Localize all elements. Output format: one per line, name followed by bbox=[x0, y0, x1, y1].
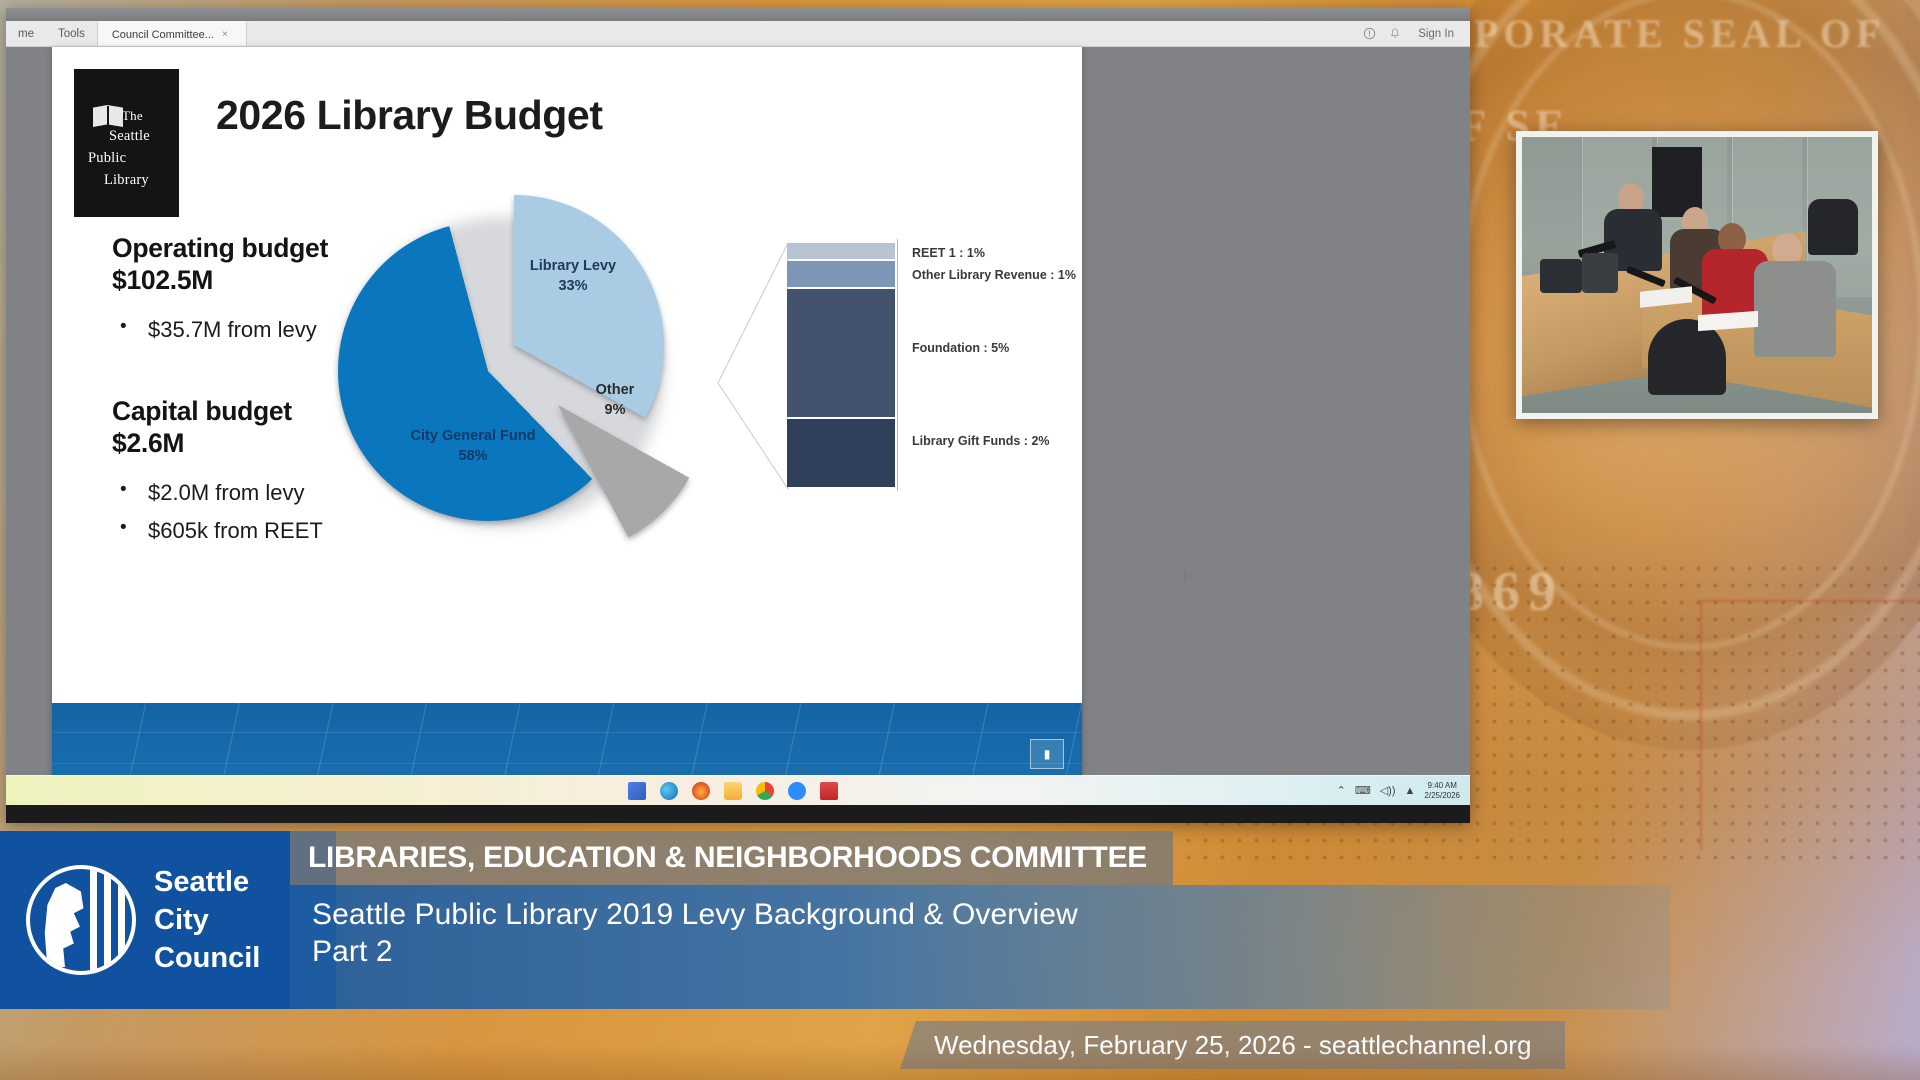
breakout-segment-other-library-revenue bbox=[787, 261, 895, 287]
council-logo-wordmark: Seattle City Council bbox=[154, 863, 260, 978]
chief-seattle-profile bbox=[43, 883, 87, 967]
sign-in-button[interactable]: Sign In bbox=[1408, 21, 1470, 46]
open-book-icon bbox=[93, 105, 123, 127]
firefox-icon[interactable] bbox=[692, 782, 710, 800]
screen-bottom-bezel bbox=[6, 805, 1470, 823]
seattle-public-library-logo: The Seattle Public Library bbox=[74, 69, 179, 217]
agenda-subtitle-line2: Part 2 bbox=[312, 934, 1670, 971]
agenda-subtitle-line1: Seattle Public Library 2019 Levy Backgro… bbox=[312, 897, 1670, 934]
gallery-chair bbox=[1808, 199, 1858, 255]
pie-label-city-general-fund-name: City General Fund bbox=[388, 427, 558, 447]
slide-canvas: The Seattle Public Library 2026 Library … bbox=[52, 47, 1082, 787]
pdf-page[interactable]: The Seattle Public Library 2026 Library … bbox=[52, 47, 1082, 787]
pie-label-city-general-fund-value: 58% bbox=[388, 447, 558, 467]
page-navigation-button[interactable]: ▮ bbox=[1030, 739, 1064, 769]
pie-label-other-value: 9% bbox=[570, 401, 660, 421]
taskbar-clock[interactable]: 9:40 AM 2/25/2026 bbox=[1424, 781, 1460, 801]
acrobat-icon[interactable] bbox=[820, 782, 838, 800]
committee-title: LIBRARIES, EDUCATION & NEIGHBORHOODS COM… bbox=[290, 831, 1173, 885]
start-button[interactable] bbox=[628, 782, 646, 800]
seattle-city-council-logo: Seattle City Council bbox=[0, 831, 336, 1009]
pie-slice-other bbox=[408, 255, 708, 555]
close-icon[interactable]: × bbox=[222, 29, 228, 40]
zoom-icon[interactable] bbox=[788, 782, 806, 800]
council-logo-line-council: Council bbox=[154, 939, 260, 977]
tools-menu-label: Tools bbox=[58, 28, 85, 40]
keyboard-icon[interactable]: ⌨ bbox=[1355, 784, 1371, 797]
breakout-bracket bbox=[897, 239, 898, 491]
clock-date: 2/25/2026 bbox=[1424, 791, 1460, 801]
pie-label-library-levy-name: Library Levy bbox=[508, 257, 638, 277]
agenda-subtitle: Seattle Public Library 2019 Levy Backgro… bbox=[290, 885, 1670, 1009]
clock-time: 9:40 AM bbox=[1424, 781, 1460, 791]
help-icon[interactable] bbox=[1356, 21, 1382, 46]
pie-label-city-general-fund: City General Fund 58% bbox=[388, 427, 558, 466]
breakout-segment-foundation bbox=[787, 289, 895, 417]
chevron-up-icon[interactable]: ⌃ bbox=[1337, 784, 1346, 797]
home-menu[interactable]: me bbox=[6, 21, 46, 46]
council-seal-icon bbox=[26, 865, 136, 975]
chrome-icon[interactable] bbox=[756, 782, 774, 800]
file-explorer-icon[interactable] bbox=[724, 782, 742, 800]
spl-logo-line-seattle: Seattle bbox=[109, 129, 150, 144]
tools-menu[interactable]: Tools bbox=[46, 21, 97, 46]
spl-logo-line-library: Library bbox=[104, 173, 149, 188]
taskbar-app-icons bbox=[628, 782, 838, 800]
bell-icon[interactable] bbox=[1382, 21, 1408, 46]
bottom-vignette bbox=[0, 1044, 1920, 1080]
monitor-back bbox=[1582, 253, 1618, 293]
pie-label-library-levy: Library Levy 33% bbox=[508, 257, 638, 296]
pie-label-other: Other 9% bbox=[570, 381, 660, 420]
spl-logo-line-the: The bbox=[122, 109, 143, 122]
budget-pie-chart: Library Levy 33% Other 9% City General F… bbox=[338, 195, 698, 535]
monitor-back bbox=[1540, 259, 1582, 293]
office-chair bbox=[1648, 319, 1726, 395]
edge-icon[interactable] bbox=[660, 782, 678, 800]
home-menu-label: me bbox=[18, 28, 34, 40]
breakout-label-foundation: Foundation : 5% bbox=[912, 341, 1009, 355]
red-guide-line-horizontal bbox=[1700, 600, 1920, 602]
volume-icon[interactable]: ◁)) bbox=[1380, 784, 1396, 797]
document-tab[interactable]: Council Committee... × bbox=[97, 21, 247, 46]
spl-logo-line-public: Public bbox=[88, 151, 126, 166]
breakout-segment-reet-1 bbox=[787, 243, 895, 259]
sign-in-label: Sign In bbox=[1418, 28, 1454, 40]
pie-label-other-name: Other bbox=[570, 381, 660, 401]
windows-taskbar: ⌃ ⌨ ◁)) ▲ 9:40 AM 2/25/2026 bbox=[6, 775, 1470, 805]
lower-third-banner: Seattle City Council LIBRARIES, EDUCATIO… bbox=[0, 825, 1920, 1080]
council-logo-line-seattle: Seattle bbox=[154, 863, 260, 901]
mouse-cursor bbox=[1178, 569, 1192, 583]
network-icon[interactable]: ▲ bbox=[1405, 785, 1416, 797]
document-tab-label: Council Committee... bbox=[112, 29, 214, 41]
breakout-label-reet-1: REET 1 : 1% bbox=[912, 246, 985, 260]
breakout-label-other-library-revenue: Other Library Revenue : 1% bbox=[912, 268, 1076, 282]
tabstrip-spacer bbox=[247, 21, 1356, 46]
breakout-segment-library-gift-funds bbox=[787, 419, 895, 487]
system-tray: ⌃ ⌨ ◁)) ▲ 9:40 AM 2/25/2026 bbox=[838, 781, 1470, 801]
other-breakout-bar bbox=[787, 243, 895, 487]
shared-screen-region: me Tools Council Committee... × Sign In bbox=[6, 8, 1470, 823]
committee-room-video-inset bbox=[1516, 131, 1878, 419]
pie-label-library-levy-value: 33% bbox=[508, 277, 638, 297]
council-logo-line-city: City bbox=[154, 901, 260, 939]
slide-title: 2026 Library Budget bbox=[216, 92, 603, 139]
pdf-reader-tabstrip: me Tools Council Committee... × Sign In bbox=[6, 21, 1470, 47]
breakout-label-library-gift-funds: Library Gift Funds : 2% bbox=[912, 434, 1050, 448]
red-guide-line-vertical bbox=[1700, 600, 1702, 850]
